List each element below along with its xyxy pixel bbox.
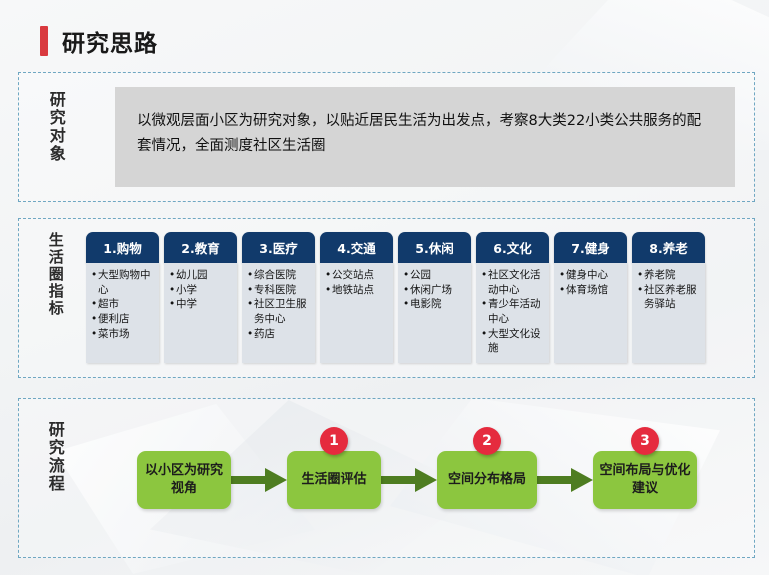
- section-life-circle-indicators: 生活圈指标 1.购物大型购物中心超市便利店菜市场2.教育幼儿园小学中学3.医疗综…: [18, 218, 755, 378]
- indicator-item: 专科医院: [247, 283, 311, 298]
- flow-step-badge: 1: [320, 427, 348, 455]
- indicator-item: 便利店: [91, 312, 155, 327]
- section-research-flow: 研究流程 以小区为研究视角1生活圈评估2空间分布格局3空间布局与优化建议: [18, 398, 755, 558]
- flow-node[interactable]: 1生活圈评估: [287, 451, 381, 509]
- indicator-card-body: 养老院社区养老服务驿站: [632, 263, 705, 363]
- flow-node[interactable]: 3空间布局与优化建议: [593, 451, 697, 509]
- indicator-card-body: 公园休闲广场电影院: [398, 263, 471, 363]
- flow-arrow: [231, 467, 287, 493]
- indicator-card-list: 1.购物大型购物中心超市便利店菜市场2.教育幼儿园小学中学3.医疗综合医院专科医…: [86, 232, 705, 363]
- indicator-item: 社区卫生服务中心: [247, 297, 311, 326]
- indicator-card[interactable]: 1.购物大型购物中心超市便利店菜市场: [86, 232, 159, 363]
- indicator-card-title: 2.教育: [164, 232, 237, 263]
- flow-node-label: 空间布局与优化建议: [599, 462, 691, 497]
- indicator-item: 健身中心: [559, 268, 623, 283]
- flow-step-badge: 3: [631, 427, 659, 455]
- indicator-card[interactable]: 7.健身健身中心体育场馆: [554, 232, 627, 363]
- indicator-card-title: 5.休闲: [398, 232, 471, 263]
- slide-canvas: 研究思路 研究对象 以微观层面小区为研究对象，以贴近居民生活为出发点，考察8大类…: [0, 0, 769, 575]
- indicator-card-body: 大型购物中心超市便利店菜市场: [86, 263, 159, 363]
- indicator-item: 中学: [169, 297, 233, 312]
- indicator-card-body: 健身中心体育场馆: [554, 263, 627, 363]
- flow-arrow: [537, 467, 593, 493]
- indicator-item: 体育场馆: [559, 283, 623, 298]
- indicator-item: 大型购物中心: [91, 268, 155, 297]
- indicator-card-title: 7.健身: [554, 232, 627, 263]
- indicator-card-title: 1.购物: [86, 232, 159, 263]
- section-label-research-flow: 研究流程: [46, 421, 63, 533]
- research-flow-diagram: 以小区为研究视角1生活圈评估2空间分布格局3空间布局与优化建议: [137, 451, 697, 509]
- indicator-card[interactable]: 2.教育幼儿园小学中学: [164, 232, 237, 363]
- flow-node-label: 以小区为研究视角: [143, 462, 225, 497]
- indicator-card-title: 8.养老: [632, 232, 705, 263]
- section-label-research-object: 研究对象: [47, 91, 64, 185]
- indicator-item: 公园: [403, 268, 467, 283]
- section-research-object: 研究对象 以微观层面小区为研究对象，以贴近居民生活为出发点，考察8大类22小类公…: [18, 72, 755, 202]
- indicator-card-body: 幼儿园小学中学: [164, 263, 237, 363]
- indicator-card-body: 社区文化活动中心青少年活动中心大型文化设施: [476, 263, 549, 363]
- indicator-card-title: 6.文化: [476, 232, 549, 263]
- indicator-item: 药店: [247, 327, 311, 342]
- title-text: 研究思路: [62, 24, 158, 58]
- indicator-card[interactable]: 5.休闲公园休闲广场电影院: [398, 232, 471, 363]
- indicator-item: 超市: [91, 297, 155, 312]
- indicator-card[interactable]: 8.养老养老院社区养老服务驿站: [632, 232, 705, 363]
- indicator-item: 休闲广场: [403, 283, 467, 298]
- section-label-indicators: 生活圈指标: [47, 232, 63, 364]
- research-object-textbox: 以微观层面小区为研究对象，以贴近居民生活为出发点，考察8大类22小类公共服务的配…: [115, 87, 735, 187]
- indicator-card[interactable]: 4.交通公交站点地铁站点: [320, 232, 393, 363]
- indicator-card-body: 综合医院专科医院社区卫生服务中心药店: [242, 263, 315, 363]
- flow-node[interactable]: 2空间分布格局: [437, 451, 537, 509]
- indicator-item: 地铁站点: [325, 283, 389, 298]
- indicator-item: 社区养老服务驿站: [637, 283, 701, 312]
- flow-node-label: 空间分布格局: [448, 471, 526, 489]
- indicator-card-title: 3.医疗: [242, 232, 315, 263]
- indicator-card-body: 公交站点地铁站点: [320, 263, 393, 363]
- indicator-item: 幼儿园: [169, 268, 233, 283]
- flow-step-badge: 2: [473, 427, 501, 455]
- flow-node-label: 生活圈评估: [301, 471, 366, 489]
- indicator-item: 菜市场: [91, 327, 155, 342]
- indicator-item: 青少年活动中心: [481, 297, 545, 326]
- indicator-item: 社区文化活动中心: [481, 268, 545, 297]
- indicator-card[interactable]: 6.文化社区文化活动中心青少年活动中心大型文化设施: [476, 232, 549, 363]
- indicator-card-title: 4.交通: [320, 232, 393, 263]
- research-object-text: 以微观层面小区为研究对象，以贴近居民生活为出发点，考察8大类22小类公共服务的配…: [137, 109, 715, 160]
- indicator-item: 大型文化设施: [481, 327, 545, 356]
- indicator-item: 公交站点: [325, 268, 389, 283]
- indicator-item: 养老院: [637, 268, 701, 283]
- title-accent-bar: [40, 26, 48, 56]
- flow-node[interactable]: 以小区为研究视角: [137, 451, 231, 509]
- page-title: 研究思路: [40, 24, 158, 58]
- flow-arrow: [381, 467, 437, 493]
- indicator-item: 综合医院: [247, 268, 311, 283]
- indicator-item: 小学: [169, 283, 233, 298]
- indicator-item: 电影院: [403, 297, 467, 312]
- indicator-card[interactable]: 3.医疗综合医院专科医院社区卫生服务中心药店: [242, 232, 315, 363]
